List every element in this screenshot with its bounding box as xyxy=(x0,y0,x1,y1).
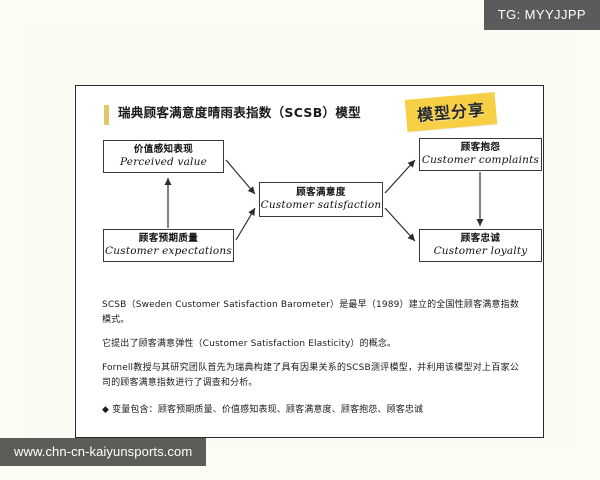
tg-handle-overlay: TG: MYYJJPP xyxy=(484,0,600,30)
node-label-en: Customer satisfaction xyxy=(261,199,382,212)
node-label-en: Customer loyalty xyxy=(434,245,528,258)
body-text-block: SCSB（Sweden Customer Satisfaction Barome… xyxy=(76,298,545,427)
scsb-model-diagram: 价值感知表现 Perceived value 顾客预期质量 Customer e… xyxy=(76,138,545,286)
node-label-cn: 价值感知表现 xyxy=(134,144,193,156)
node-label-cn: 顾客忠诚 xyxy=(461,233,501,245)
edge-satisfaction-to-loyalty xyxy=(385,208,415,241)
body-paragraph-3: Fornell教授与其研究团队首先为瑞典构建了具有因果关系的SCSB测评模型，并… xyxy=(102,361,519,391)
edge-expectations-to-satisfaction xyxy=(236,208,255,240)
slide-background: 瑞典顾客满意度晴雨表指数（SCSB）模型 模型分享 xyxy=(0,0,600,480)
share-badge-label: 模型分享 xyxy=(416,100,485,125)
body-paragraph-2: 它提出了顾客满意弹性（Customer Satisfaction Elastic… xyxy=(102,337,519,352)
body-paragraph-1: SCSB（Sweden Customer Satisfaction Barome… xyxy=(102,298,519,328)
node-label-en: Customer complaints xyxy=(422,154,539,167)
node-customer-expectations: 顾客预期质量 Customer expectations xyxy=(103,229,234,262)
node-customer-complaints: 顾客抱怨 Customer complaints xyxy=(419,138,542,171)
node-label-cn: 顾客预期质量 xyxy=(139,233,198,245)
node-label-cn: 顾客满意度 xyxy=(296,187,346,199)
body-paragraph-4-variables: ◆ 变量包含：顾客预期质量、价值感知表现、顾客满意度、顾客抱怨、顾客忠诚 xyxy=(102,403,519,418)
title-row: 瑞典顾客满意度晴雨表指数（SCSB）模型 模型分享 xyxy=(76,100,543,134)
site-watermark-overlay: www.chn-cn-kaiyunsports.com xyxy=(0,438,206,466)
edge-satisfaction-to-complaints xyxy=(385,160,415,193)
content-panel: 瑞典顾客满意度晴雨表指数（SCSB）模型 模型分享 xyxy=(75,85,544,438)
edge-perceived-value-to-satisfaction xyxy=(226,160,255,194)
slide-card: 瑞典顾客满意度晴雨表指数（SCSB）模型 模型分享 xyxy=(22,23,578,445)
node-label-cn: 顾客抱怨 xyxy=(461,142,501,154)
title-accent-bar xyxy=(104,105,109,125)
page-title: 瑞典顾客满意度晴雨表指数（SCSB）模型 xyxy=(118,100,361,126)
node-perceived-value: 价值感知表现 Perceived value xyxy=(103,140,224,173)
share-badge: 模型分享 xyxy=(405,92,497,132)
node-label-en: Perceived value xyxy=(120,156,207,169)
node-label-en: Customer expectations xyxy=(105,245,232,258)
node-customer-satisfaction: 顾客满意度 Customer satisfaction xyxy=(259,182,383,217)
node-customer-loyalty: 顾客忠诚 Customer loyalty xyxy=(419,229,542,262)
